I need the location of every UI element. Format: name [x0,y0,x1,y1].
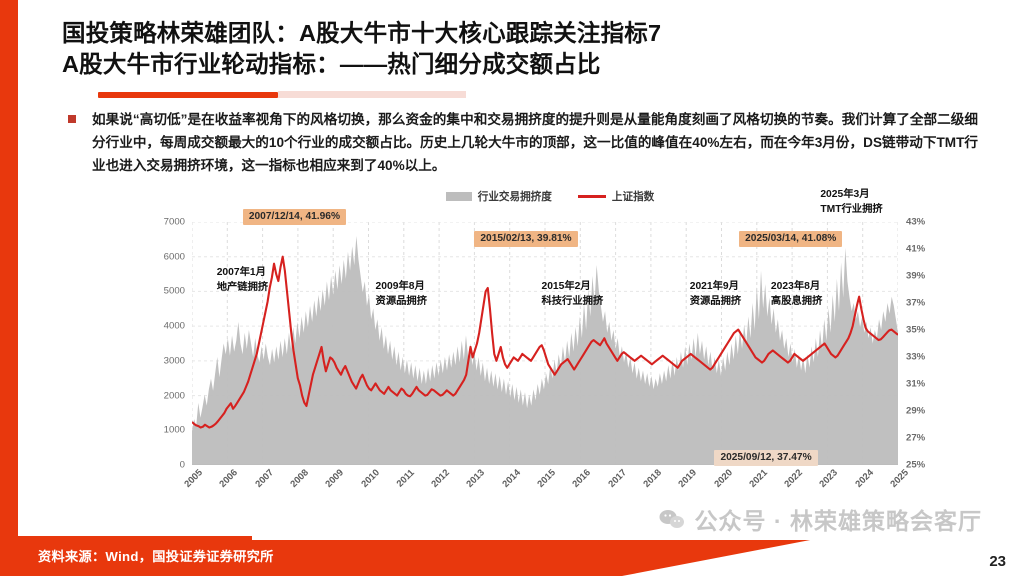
y-axis-right-tick: 43% [906,217,925,228]
x-axis-tick: 2011 [394,467,416,489]
chart-plot-area: 01000200030004000500060007000 25%27%29%3… [192,222,898,465]
y-axis-right-tick: 41% [906,244,925,255]
x-axis-tick: 2015 [535,467,558,490]
y-axis-right-tick: 39% [906,271,925,282]
legend-item-index: 上证指数 [578,189,654,204]
label-2023-dividend: 2023年8月高股息拥挤 [771,280,822,309]
x-axis-tick: 2010 [358,467,381,490]
watermark-text: 公众号 · 林荣雄策略会客厅 [695,502,982,536]
title-line-2: A股大牛市行业轮动指标：——热门细分成交额占比 [62,49,962,80]
legend-label-congestion: 行业交易拥挤度 [478,189,552,204]
watermark: 公众号 · 林荣雄策略会客厅 [659,502,982,536]
x-axis-tick: 2009 [323,467,346,490]
y-axis-right-tick: 29% [906,406,925,417]
left-accent-inner [18,0,34,576]
label-2021-resources: 2021年9月资源品拥挤 [690,280,741,309]
x-axis-tick: 2006 [217,467,240,490]
y-axis-left-tick: 1000 [139,425,185,436]
legend-label-index: 上证指数 [612,189,654,204]
x-axis-tick: 2022 [782,467,805,490]
chart-canvas [192,222,898,465]
title-line-1: 国投策略林荣雄团队：A股大牛市十大核心跟踪关注指标7 [62,18,962,49]
y-axis-left-tick: 5000 [139,286,185,297]
source-label: 资料来源：Wind，国投证券证券研究所 [38,546,274,565]
x-axis-tick: 2019 [676,467,699,490]
page-title: 国投策略林荣雄团队：A股大牛市十大核心跟踪关注指标7 A股大牛市行业轮动指标：—… [62,18,962,80]
y-axis-left-tick: 6000 [139,251,185,262]
chart-container: 行业交易拥挤度 上证指数 010002000300040005000600070… [150,188,950,493]
body-paragraph: 如果说“高切低”是在收益率视角下的风格切换，那么资金的集中和交易拥挤度的提升则是… [92,108,978,177]
y-axis-left-tick: 4000 [139,321,185,332]
y-axis-right-tick: 27% [906,433,925,444]
label-2015-tech: 2015年2月科技行业拥挤 [541,280,603,309]
y-axis-right-tick: 37% [906,297,925,308]
legend-item-congestion: 行业交易拥挤度 [446,189,552,204]
x-axis-tick: 2023 [817,467,840,490]
page-number: 23 [989,553,1006,570]
y-axis-right-tick: 31% [906,378,925,389]
y-axis-left-tick: 3000 [139,355,185,366]
x-axis-tick: 2018 [641,467,664,490]
y-axis-right-tick: 33% [906,352,925,363]
x-axis-tick: 2024 [852,467,875,490]
x-axis-tick: 2014 [499,467,522,490]
wechat-icon [659,508,685,530]
x-axis-tick: 2007 [252,467,275,490]
x-axis-tick: 2012 [429,467,452,490]
x-axis-tick: 2021 [746,467,769,490]
label-2009-resources: 2009年8月资源品拥挤 [376,280,427,309]
footer-notch [252,535,1024,540]
title-underline-pale [278,91,466,98]
y-axis-left-tick: 0 [139,460,185,471]
x-axis-tick: 2008 [288,467,311,490]
x-axis-tick: 2016 [570,467,593,490]
tag-2007-peak: 2007/12/14, 41.96% [243,209,346,225]
x-axis-tick: 2020 [711,467,734,490]
label-2007-property: 2007年1月地产链拥挤 [217,266,268,295]
x-axis-tick: 2005 [182,467,205,490]
y-axis-left-tick: 7000 [139,217,185,228]
chart-svg [192,222,898,465]
tag-2025-latest: 2025/09/12, 37.47% [714,450,817,466]
legend-area-swatch-icon [446,192,472,201]
tag-2025-peak: 2025/03/14, 41.08% [739,231,842,247]
label-2025-tmt: 2025年3月TMT行业拥挤 [820,188,882,217]
tag-2015-peak: 2015/02/13, 39.81% [474,231,577,247]
legend-line-swatch-icon [578,195,606,198]
x-axis-tick: 2017 [605,467,628,490]
slide: 国投策略林荣雄团队：A股大牛市十大核心跟踪关注指标7 A股大牛市行业轮动指标：—… [0,0,1024,576]
left-accent-bar [0,0,34,576]
y-axis-right-tick: 25% [906,460,925,471]
y-axis-right-tick: 35% [906,325,925,336]
bullet-marker [68,115,76,123]
footer-white-wedge [622,536,1024,576]
x-axis-tick: 2013 [464,467,487,490]
title-underline-accent [98,92,278,98]
y-axis-left-tick: 2000 [139,390,185,401]
